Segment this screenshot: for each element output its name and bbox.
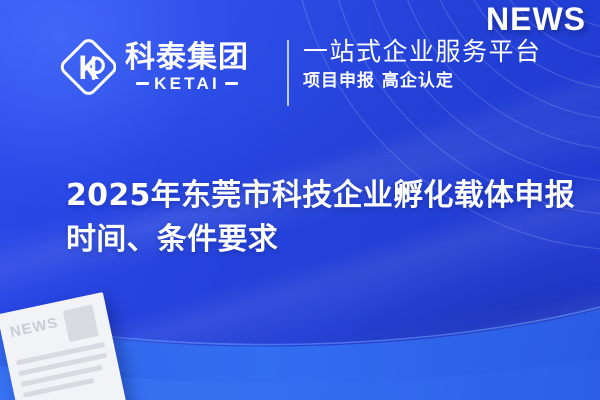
wordmark-dash-right: [225, 82, 238, 85]
brand-name-en: KETAI: [154, 75, 220, 92]
slogan-sub-text: 项目申报 高企认定: [303, 71, 542, 92]
brand-slogan: 一站式企业服务平台 项目申报 高企认定: [303, 36, 542, 93]
page-title: 2025年东莞市科技企业孵化载体申报时间、条件要求: [66, 174, 578, 262]
wordmark-dash-left: [136, 82, 149, 85]
banner-header: 科泰集团 KETAI 一站式企业服务平台 项目申报 高企认定 NEWS: [0, 0, 600, 140]
brand-logo[interactable]: 科泰集团 KETAI: [58, 38, 249, 96]
brand-name-cn: 科泰集团: [125, 42, 249, 74]
ketai-diamond-logo-icon: [58, 38, 116, 96]
news-badge: NEWS: [486, 2, 586, 37]
slogan-main-text: 一站式企业服务平台: [303, 36, 542, 67]
news-banner: 科泰集团 KETAI 一站式企业服务平台 项目申报 高企认定 NEWS 2025…: [0, 0, 600, 400]
header-divider: [287, 40, 289, 106]
brand-wordmark: 科泰集团 KETAI: [125, 42, 249, 93]
image-placeholder-icon: [63, 305, 99, 343]
newspaper-title: NEWS: [8, 312, 60, 340]
brand-name-en-row: KETAI: [125, 75, 249, 92]
